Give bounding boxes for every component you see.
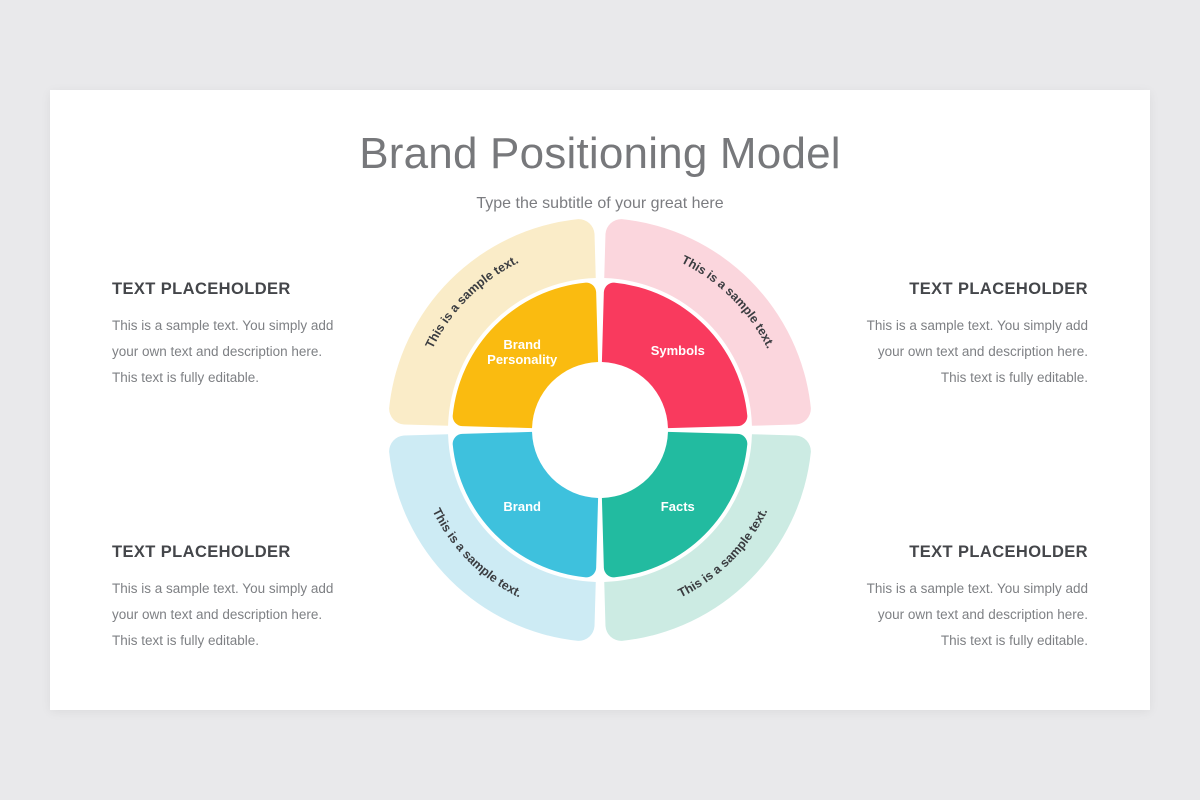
page-subtitle: Type the subtitle of your great here: [50, 195, 1150, 213]
outer-ring-group: [389, 219, 811, 641]
text-block-bottom-left[interactable]: TEXT PLACEHOLDER This is a sample text. …: [112, 543, 352, 654]
brand-positioning-wheel: BrandPersonalitySymbolsBrandFacts This i…: [382, 212, 818, 648]
text-line-2: your own text and description here.: [878, 607, 1088, 622]
text-line-2: your own text and description here.: [878, 344, 1088, 359]
slide-root: Brand Positioning Model Type the subtitl…: [0, 0, 1200, 800]
inner-ring-group: [453, 283, 748, 578]
text-block-body: This is a sample text. You simply add yo…: [848, 313, 1088, 391]
text-line-1: This is a sample text. You simply add: [867, 581, 1088, 596]
wheel-segment-bottom-right-label: Facts: [661, 499, 695, 514]
wheel-segment-bottom-left-label: Brand: [503, 499, 541, 514]
text-block-body: This is a sample text. You simply add yo…: [112, 576, 352, 654]
text-block-body: This is a sample text. You simply add yo…: [112, 313, 352, 391]
text-line-2: your own text and description here.: [112, 344, 322, 359]
text-block-heading: TEXT PLACEHOLDER: [848, 543, 1088, 562]
text-block-top-left[interactable]: TEXT PLACEHOLDER This is a sample text. …: [112, 280, 352, 391]
text-block-heading: TEXT PLACEHOLDER: [112, 280, 352, 299]
text-line-3: This text is fully editable.: [941, 370, 1088, 385]
text-line-1: This is a sample text. You simply add: [112, 318, 333, 333]
text-block-heading: TEXT PLACEHOLDER: [112, 543, 352, 562]
wheel-svg: BrandPersonalitySymbolsBrandFacts This i…: [382, 212, 818, 648]
text-line-3: This text is fully editable.: [112, 633, 259, 648]
text-line-3: This text is fully editable.: [941, 633, 1088, 648]
text-line-3: This text is fully editable.: [112, 370, 259, 385]
text-line-2: your own text and description here.: [112, 607, 322, 622]
text-line-1: This is a sample text. You simply add: [867, 318, 1088, 333]
text-block-top-right[interactable]: TEXT PLACEHOLDER This is a sample text. …: [848, 280, 1088, 391]
text-block-heading: TEXT PLACEHOLDER: [848, 280, 1088, 299]
text-block-bottom-right[interactable]: TEXT PLACEHOLDER This is a sample text. …: [848, 543, 1088, 654]
slide-card: Brand Positioning Model Type the subtitl…: [50, 90, 1150, 710]
text-block-body: This is a sample text. You simply add yo…: [848, 576, 1088, 654]
text-line-1: This is a sample text. You simply add: [112, 581, 333, 596]
wheel-segment-top-right-label: Symbols: [651, 344, 705, 359]
page-title: Brand Positioning Model: [50, 130, 1150, 178]
